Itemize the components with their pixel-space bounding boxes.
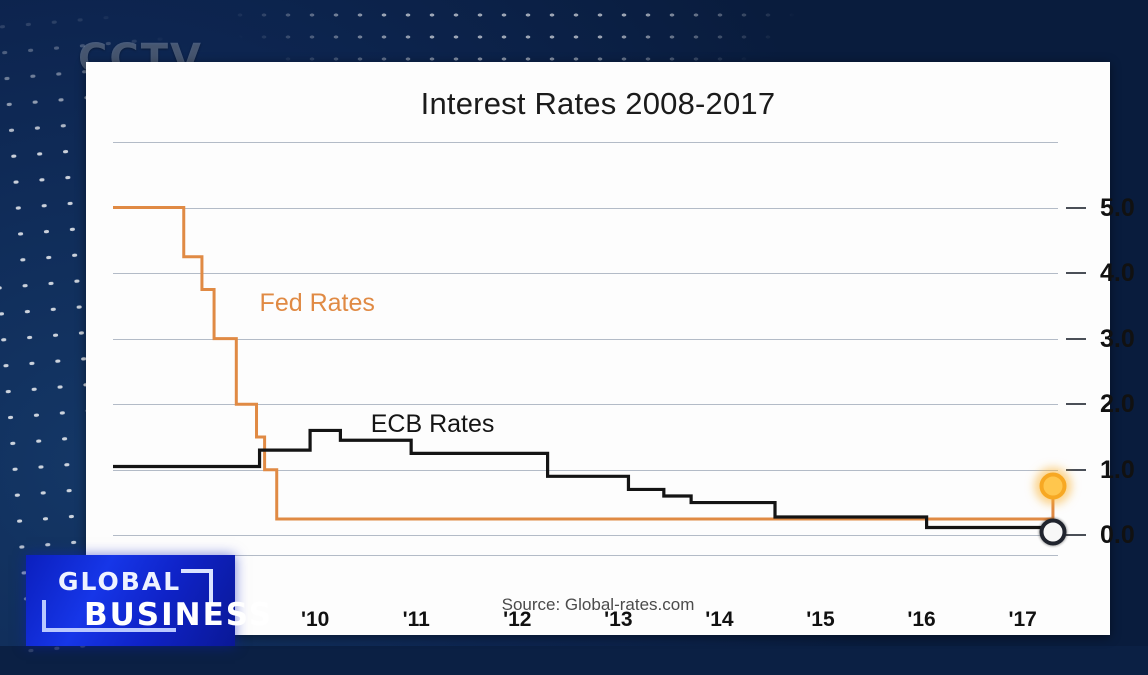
endpoint-marker-fed-rates [1039,473,1066,500]
chart-card: Interest Rates 2008-2017 0.01.02.03.04.0… [86,62,1110,635]
logo-line-global: GLOBAL [58,567,181,596]
chart-series-layer [113,142,1058,555]
y-axis-label: 3.0 [1100,327,1135,352]
y-axis-label: 5.0 [1100,196,1135,221]
y-axis-tick [1066,207,1086,209]
y-axis-tick [1066,469,1086,471]
gridline [113,555,1058,556]
y-axis-label: 1.0 [1100,458,1135,483]
series-label-fed: Fed Rates [260,291,375,316]
y-axis-tick [1066,403,1086,405]
logo-line-business: BUSINESS [84,597,273,633]
series-line-ecb-rates [113,430,1053,532]
series-line-fed-rates [113,208,1053,519]
y-axis-tick [1066,338,1086,340]
series-label-ecb: ECB Rates [371,412,495,437]
y-axis-label: 2.0 [1100,392,1135,417]
chart-plot-area: 0.01.02.03.04.05.0 '09'10'11'12'13'14'15… [113,142,1058,555]
y-axis-label: 4.0 [1100,261,1135,286]
y-axis-label: 0.0 [1100,523,1135,548]
global-business-logo: GLOBAL BUSINESS [26,555,235,646]
endpoint-marker-ecb-rates [1039,519,1066,546]
y-axis-tick [1066,272,1086,274]
page-title: Interest Rates 2008-2017 [86,86,1110,122]
y-axis-tick [1066,534,1086,536]
